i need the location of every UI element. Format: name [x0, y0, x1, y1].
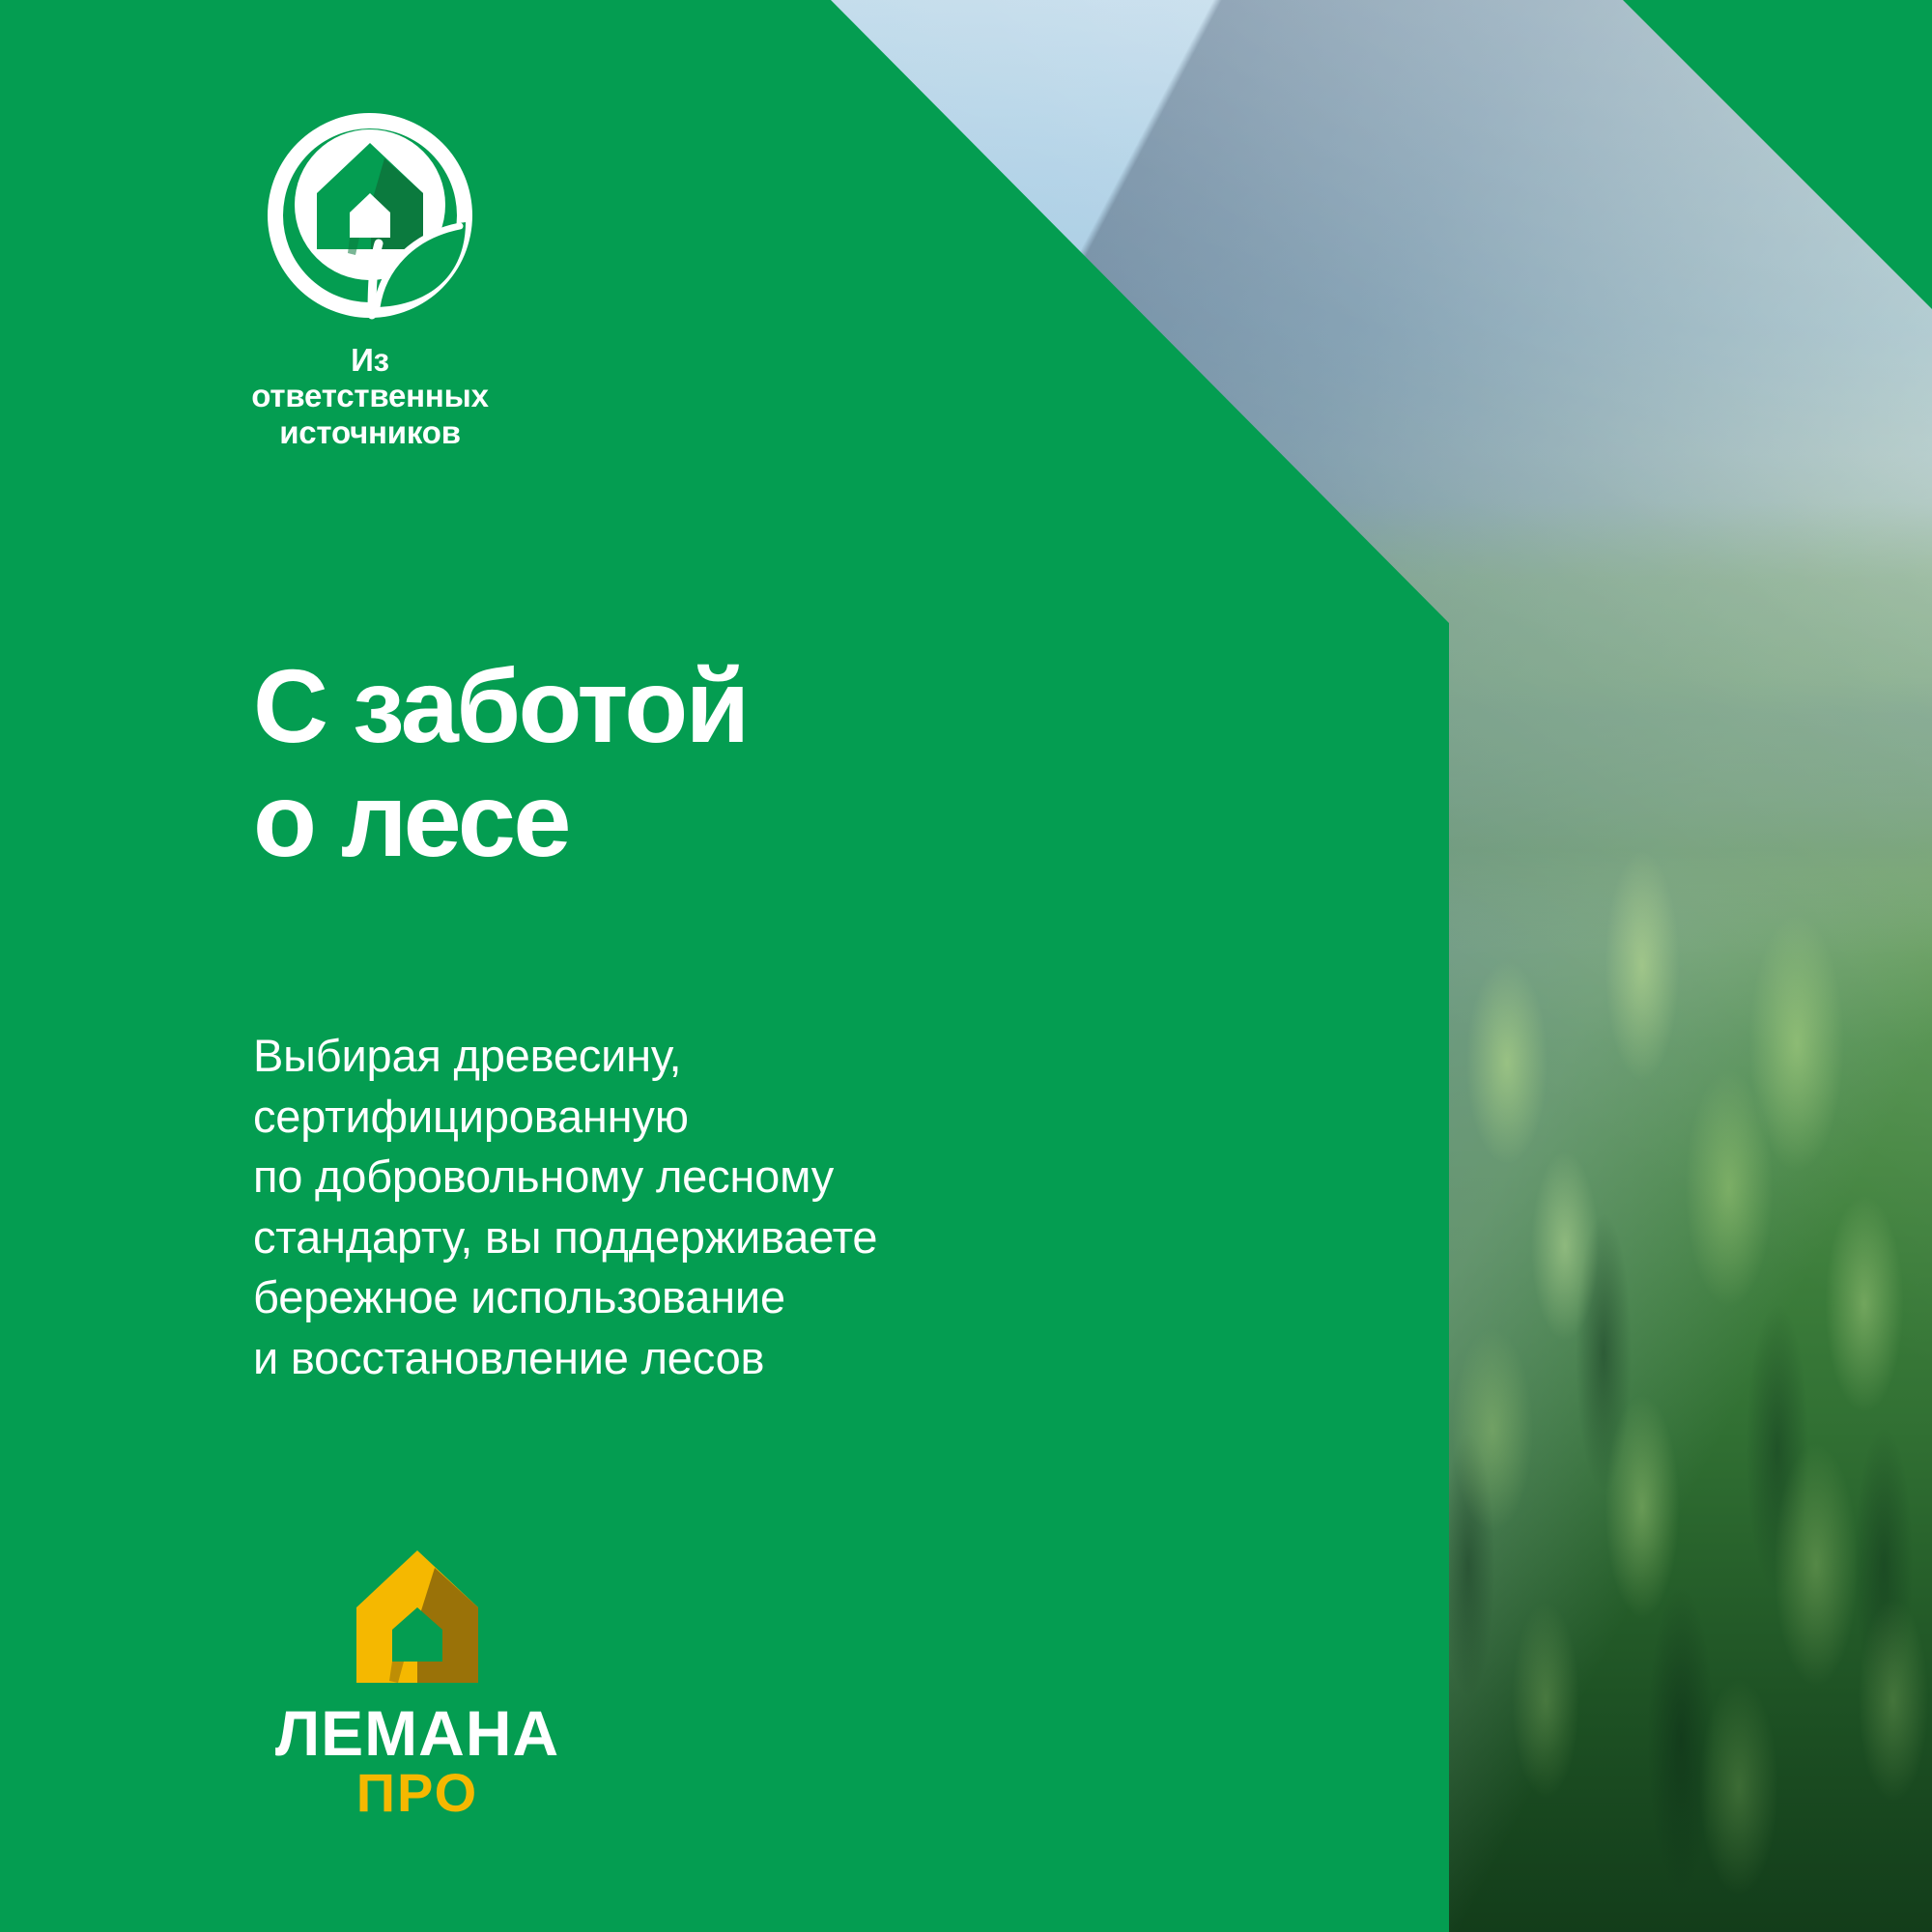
- poster-body-text: Выбирая древесину, сертифицированную по …: [253, 1026, 877, 1388]
- eco-certification-badge: Из ответственных источников: [249, 108, 491, 450]
- lemana-pro-wordmark: ЛЕМАНА ПРО: [253, 1695, 582, 1817]
- poster-headline: С заботой о лесе: [253, 649, 748, 876]
- lemana-pro-logo: ЛЕМАНА ПРО: [243, 1548, 591, 1817]
- eco-badge-caption: Из ответственных источников: [249, 342, 491, 450]
- brand-name-primary: ЛЕМАНА: [275, 1697, 559, 1769]
- circle-house-leaf-eco-icon: [263, 108, 477, 323]
- brand-name-secondary: ПРО: [356, 1762, 478, 1817]
- lemana-house-icon: [354, 1548, 481, 1686]
- poster-content: Из ответственных источников С заботой о …: [0, 0, 1932, 1932]
